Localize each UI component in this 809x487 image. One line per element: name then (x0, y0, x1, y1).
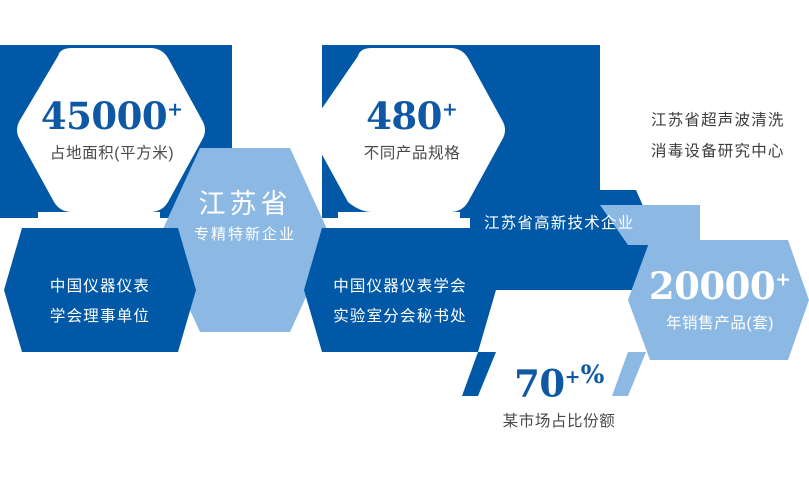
hexagon-band-separator (338, 212, 460, 224)
stat-land-area: 45000+ 占地面积(平方米) (18, 98, 206, 162)
band-secretariat-line1: 中国仪器仪表学会 (312, 272, 488, 302)
stat-product-specs-value: 480+ (318, 98, 506, 135)
band-china-instrument-council: 中国仪器仪表 学会理事单位 (12, 272, 188, 332)
stat-annual-sales-caption: 年销售产品(套) (630, 316, 809, 332)
stat-product-specs-caption: 不同产品规格 (318, 146, 506, 162)
stat-market-share: 70+% 某市场占比份额 (465, 362, 653, 430)
stat-product-specs: 480+ 不同产品规格 (318, 98, 506, 162)
stat-land-area-caption: 占地面积(平方米) (18, 146, 206, 162)
band-secretariat-line2: 实验室分会秘书处 (312, 302, 488, 332)
stat-annual-sales-value: 20000+ (630, 268, 809, 305)
stat-annual-sales: 20000+ 年销售产品(套) (630, 268, 809, 332)
stat-market-share-value: 70+% (465, 362, 653, 402)
label-research-center: 江苏省超声波清洗 消毒设备研究中心 (651, 105, 785, 167)
hexagon-band-separator-left (38, 212, 160, 224)
stat-land-area-value: 45000+ (18, 98, 206, 135)
band-council-line1: 中国仪器仪表 (12, 272, 188, 302)
infographic-canvas: 45000+ 占地面积(平方米) 480+ 不同产品规格 江苏省 专精特新企业 … (0, 0, 809, 487)
hex-badge-line2: 专精特新企业 (158, 222, 332, 246)
stat-market-share-caption: 某市场占比份额 (465, 414, 653, 430)
band-lab-branch-secretariat: 中国仪器仪表学会 实验室分会秘书处 (312, 272, 488, 332)
band-council-line2: 学会理事单位 (12, 302, 188, 332)
hex-badge-jiangsu-sme: 江苏省 专精特新企业 (158, 188, 332, 246)
infographic-shapes (0, 0, 809, 487)
hex-badge-line1: 江苏省 (158, 188, 332, 222)
research-center-line2: 消毒设备研究中心 (651, 136, 785, 167)
label-high-tech-enterprise: 江苏省高新技术企业 (484, 209, 650, 239)
research-center-line1: 江苏省超声波清洗 (651, 105, 785, 136)
